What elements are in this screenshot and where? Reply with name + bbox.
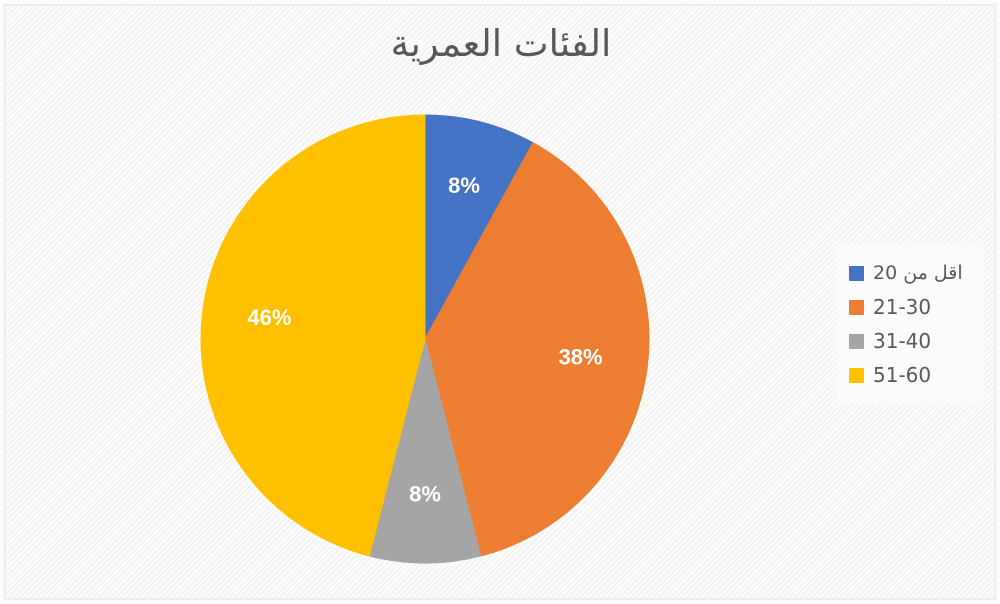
legend-item-label: 31-40	[873, 331, 931, 351]
legend-item-label: 51-60	[873, 365, 931, 385]
legend-color-swatch-icon	[849, 266, 864, 281]
chart-container: الفئات العمرية 8%38%8%46% اقل من 2021-30…	[0, 0, 1000, 604]
legend-item-label: اقل من 20	[873, 263, 963, 283]
legend-item[interactable]: اقل من 20	[849, 256, 973, 290]
legend-color-swatch-icon	[849, 334, 864, 349]
legend-item[interactable]: 31-40	[849, 324, 973, 358]
legend-item[interactable]: 51-60	[849, 358, 973, 392]
pie-slice-data-label: 38%	[559, 345, 603, 370]
legend-item[interactable]: 21-30	[849, 290, 973, 324]
pie-slice-data-label: 8%	[448, 173, 480, 198]
legend-color-swatch-icon	[849, 300, 864, 315]
pie-slice-data-label: 8%	[409, 482, 441, 507]
legend-color-swatch-icon	[849, 368, 864, 383]
legend-item-label: 21-30	[873, 297, 931, 317]
chart-legend: اقل من 2021-3031-4051-60	[837, 244, 983, 404]
pie-slice-data-label: 46%	[247, 305, 291, 330]
